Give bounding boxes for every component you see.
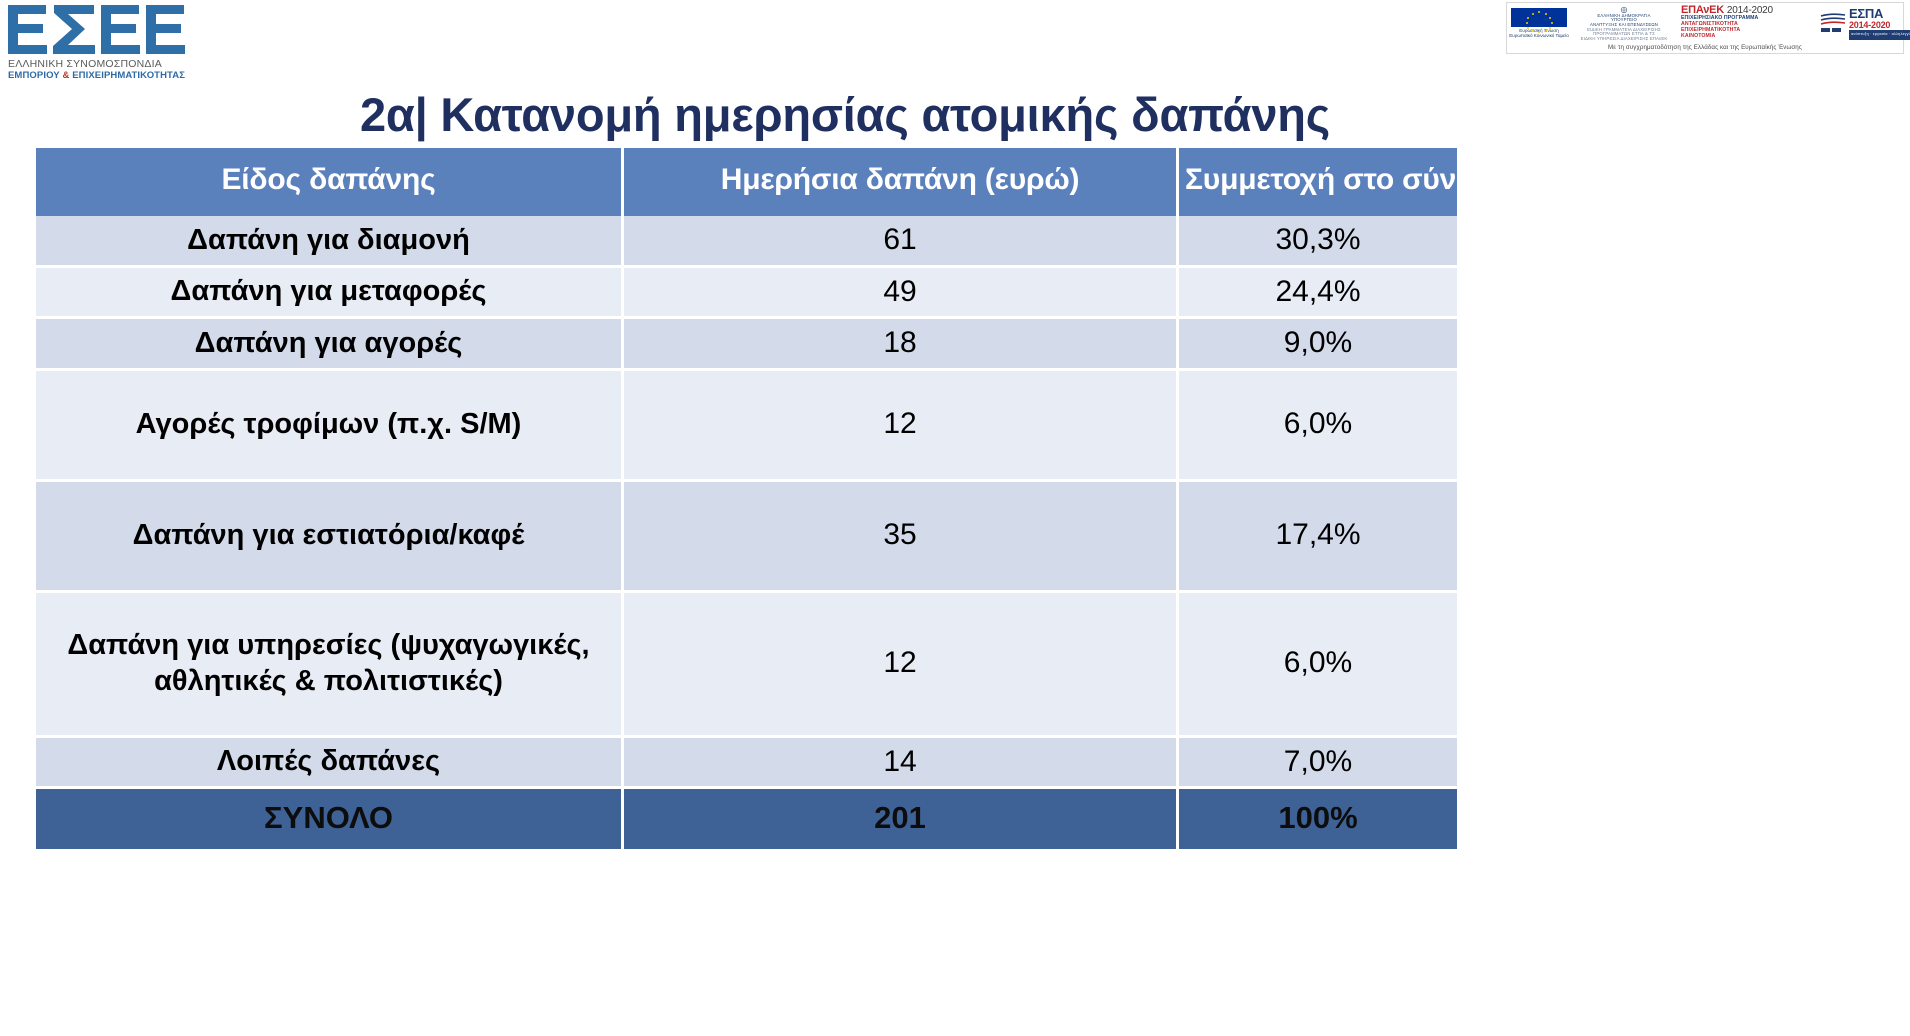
- cell-value: 18: [624, 319, 1179, 371]
- cell-kind: Δαπάνη για μεταφορές: [36, 268, 624, 320]
- table-row: Δαπάνη για εστιατόρια/καφέ 35 17,4%: [36, 482, 1457, 593]
- page-title: 2α| Κατανομή ημερησίας ατομικής δαπάνης: [210, 87, 1480, 142]
- table-body: Δαπάνη για διαμονή 61 30,3% Δαπάνη για μ…: [36, 216, 1457, 849]
- esee-logo-subtitle-2: ΕΜΠΟΡΙΟΥ & ΕΠΙΧΕΙΡΗΜΑΤΙΚΟΤΗΤΑΣ: [6, 70, 202, 81]
- logo-line2-suffix: ΕΠΙΧΕΙΡΗΜΑΤΙΚΟΤΗΤΑΣ: [69, 70, 185, 81]
- logo-line2-prefix: ΕΜΠΟΡΙΟΥ: [8, 70, 62, 81]
- total-value: 201: [624, 789, 1179, 849]
- cell-kind: Δαπάνη για διαμονή: [36, 216, 624, 268]
- espa-years: 2014-2020: [1849, 20, 1910, 30]
- esee-logo-subtitle-1: ΕΛΛΗΝΙΚΗ ΣΥΝΟΜΟΣΠΟΝΔΙΑ: [6, 58, 202, 70]
- table-header: Είδος δαπάνης Ημερήσια δαπάνη (ευρώ) Συμ…: [36, 148, 1457, 216]
- table-row: Δαπάνη για διαμονή 61 30,3%: [36, 216, 1457, 268]
- cell-value: 14: [624, 738, 1179, 790]
- cell-value: 49: [624, 268, 1179, 320]
- table-row: Λοιπές δαπάνες 14 7,0%: [36, 738, 1457, 790]
- esee-logo-mark: [6, 2, 188, 58]
- epanek-title: ΕΠΑνΕΚ 2014-2020: [1681, 7, 1811, 15]
- cell-share: 6,0%: [1179, 371, 1457, 482]
- european-union-flag-icon: Ευρωπαϊκή Ένωση Ευρωπαϊκό Κοινωνικό Ταμε…: [1511, 8, 1567, 38]
- cell-share: 30,3%: [1179, 216, 1457, 268]
- cell-share: 7,0%: [1179, 738, 1457, 790]
- column-header-share: Συμμετοχή στο σύνολο (%): [1179, 148, 1457, 216]
- cell-kind: Λοιπές δαπάνες: [36, 738, 624, 790]
- cell-value: 12: [624, 371, 1179, 482]
- column-header-value: Ημερήσια δαπάνη (ευρώ): [624, 148, 1179, 216]
- epanek-line-3: ΚΑΙΝΟΤΟΜΙΑ: [1681, 33, 1811, 39]
- table-row: Δαπάνη για μεταφορές 49 24,4%: [36, 268, 1457, 320]
- banner-logos-row: Ευρωπαϊκή Ένωση Ευρωπαϊκό Κοινωνικό Ταμε…: [1511, 5, 1899, 41]
- cell-share: 24,4%: [1179, 268, 1457, 320]
- greek-republic-block: ◎ ΕΛΛΗΝΙΚΗ ΔΗΜΟΚΡΑΤΙΑ ΥΠΟΥΡΓΕΙΟ ΑΝΑΠΤΥΞΗ…: [1576, 5, 1672, 42]
- table-row: Δαπάνη για υπηρεσίες (ψυχαγωγικές, αθλητ…: [36, 593, 1457, 738]
- table-row: Δαπάνη για αγορές 18 9,0%: [36, 319, 1457, 371]
- expense-distribution-table: Είδος δαπάνης Ημερήσια δαπάνη (ευρώ) Συμ…: [36, 148, 1457, 849]
- cell-kind: Δαπάνη για εστιατόρια/καφέ: [36, 482, 624, 593]
- table-total-row: ΣΥΝΟΛΟ 201 100%: [36, 789, 1457, 849]
- cell-kind: Αγορές τροφίμων (π.χ. S/M): [36, 371, 624, 482]
- cell-value: 61: [624, 216, 1179, 268]
- eu-flag-caption-2: Ευρωπαϊκό Κοινωνικό Ταμείο: [1509, 33, 1569, 38]
- esee-logo: ΕΛΛΗΝΙΚΗ ΣΥΝΟΜΟΣΠΟΝΔΙΑ ΕΜΠΟΡΙΟΥ & ΕΠΙΧΕΙ…: [6, 2, 202, 84]
- column-header-kind: Είδος δαπάνης: [36, 148, 624, 216]
- espa-tagline: ανάπτυξη · εργασία · αλληλεγγύη: [1849, 30, 1910, 40]
- cell-value: 35: [624, 482, 1179, 593]
- cell-value: 12: [624, 593, 1179, 738]
- cell-kind: Δαπάνη για αγορές: [36, 319, 624, 371]
- table-row: Αγορές τροφίμων (π.χ. S/M) 12 6,0%: [36, 371, 1457, 482]
- cell-share: 6,0%: [1179, 593, 1457, 738]
- eu-espa-funding-banner: Ευρωπαϊκή Ένωση Ευρωπαϊκό Κοινωνικό Ταμε…: [1506, 2, 1904, 54]
- espa-name: ΕΣΠΑ: [1849, 7, 1910, 20]
- espa-wave-icon: [1820, 12, 1846, 34]
- total-label: ΣΥΝΟΛΟ: [36, 789, 624, 849]
- eu-flag-box: [1511, 8, 1567, 27]
- espa-program-block: ΕΣΠΑ 2014-2020 ανάπτυξη · εργασία · αλλη…: [1820, 7, 1910, 40]
- cell-share: 9,0%: [1179, 319, 1457, 371]
- table-header-row: Είδος δαπάνης Ημερήσια δαπάνη (ευρώ) Συμ…: [36, 148, 1457, 216]
- banner-cofunding-note: Με τη συγχρηματοδότηση της Ελλάδας και τ…: [1511, 44, 1899, 52]
- total-share: 100%: [1179, 789, 1457, 849]
- cell-kind: Δαπάνη για υπηρεσίες (ψυχαγωγικές, αθλητ…: [36, 593, 624, 738]
- cell-share: 17,4%: [1179, 482, 1457, 593]
- epanek-program-block: ΕΠΑνΕΚ 2014-2020 ΕΠΙΧΕΙΡΗΣΙΑΚΟ ΠΡΟΓΡΑΜΜΑ…: [1681, 7, 1811, 39]
- espa-text-block: ΕΣΠΑ 2014-2020 ανάπτυξη · εργασία · αλλη…: [1849, 7, 1910, 40]
- greek-line-5: ΕΙΔΙΚΗ ΥΠΗΡΕΣΙΑ ΔΙΑΧΕΙΡΙΣΗΣ ΕΠΑνΕΚ: [1576, 37, 1672, 42]
- expense-table-container: Είδος δαπάνης Ημερήσια δαπάνη (ευρώ) Συμ…: [36, 148, 1457, 849]
